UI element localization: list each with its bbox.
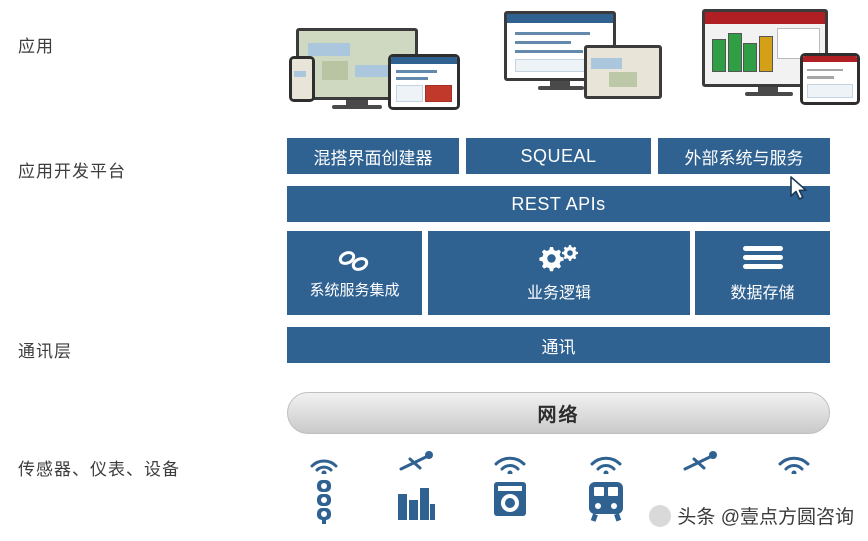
box-rest-apis[interactable]: REST APIs: [287, 186, 830, 222]
wifi-wave-icon: [569, 450, 643, 476]
box-data-storage[interactable]: 数据存储: [695, 231, 830, 315]
gears-icon: [536, 243, 582, 273]
wifi-wave-icon: [757, 450, 831, 476]
sensor-probe-icon: [379, 450, 453, 476]
smartphone: [289, 56, 315, 102]
sensor-train: [569, 450, 643, 524]
row-label-sensors: 传感器、仪表、设备: [18, 455, 180, 480]
tablet-report: [800, 53, 860, 105]
train-icon: [569, 478, 643, 524]
box-external-systems[interactable]: 外部系统与服务: [658, 138, 830, 174]
watermark-logo-icon: [649, 505, 671, 527]
sensor-factory: [379, 450, 453, 524]
washing-machine-icon: [473, 478, 547, 524]
row-label-platform: 应用开发平台: [18, 157, 126, 182]
sensor-traffic-light: [287, 450, 361, 524]
box-system-integration-label: 系统服务集成: [309, 282, 399, 301]
box-mashup-builder[interactable]: 混搭界面创建器: [287, 138, 459, 174]
watermark: 头条 @壹点方圆咨询: [649, 502, 854, 529]
tablet-report-screen: [803, 56, 857, 102]
traffic-light-icon: [287, 478, 361, 524]
watermark-text: 头条 @壹点方圆咨询: [677, 502, 854, 529]
row-label-application: 应用: [18, 32, 54, 57]
factory-icon: [379, 478, 453, 524]
box-squeal[interactable]: SQUEAL: [466, 138, 651, 174]
wifi-wave-icon: [473, 450, 547, 476]
box-system-integration[interactable]: 系统服务集成: [287, 231, 422, 315]
chain-link-icon: [335, 246, 375, 276]
tablet-map-screen: [587, 48, 659, 96]
row-label-communication: 通讯层: [18, 337, 72, 362]
monitor-base: [332, 105, 382, 109]
tablet: [388, 54, 460, 110]
monitor-base: [745, 92, 793, 96]
diagram-canvas: 应用 应用开发平台 通讯层 传感器、仪表、设备: [0, 0, 868, 541]
box-business-logic[interactable]: 业务逻辑: [428, 231, 690, 315]
sensor-washing-machine: [473, 450, 547, 524]
mouse-cursor-icon: [789, 176, 811, 202]
box-communication[interactable]: 通讯: [287, 327, 830, 363]
box-business-logic-label: 业务逻辑: [527, 279, 591, 303]
phone-screen: [292, 59, 312, 99]
sensor-probe-icon: [663, 450, 737, 476]
tablet-screen: [391, 57, 457, 107]
box-network[interactable]: 网络: [287, 392, 830, 434]
monitor-base: [538, 86, 584, 90]
tablet-map: [584, 45, 662, 99]
wifi-wave-icon: [287, 450, 361, 476]
box-data-storage-label: 数据存储: [730, 279, 794, 303]
database-stack-icon: [740, 243, 786, 273]
